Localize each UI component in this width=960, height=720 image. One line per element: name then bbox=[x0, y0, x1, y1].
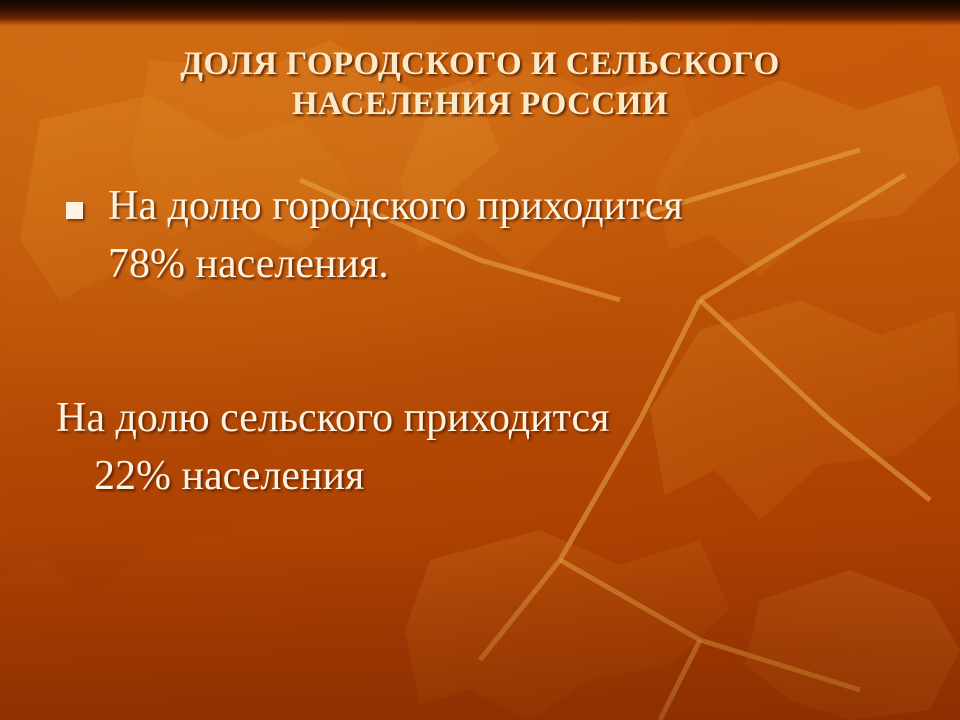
bullet-item-1: На долю городского приходится bbox=[52, 178, 932, 236]
slide-body: На долю городского приходится 78% населе… bbox=[52, 178, 932, 506]
slide-title: ДОЛЯ ГОРОДСКОГО И СЕЛЬСКОГО НАСЕЛЕНИЯ РО… bbox=[60, 44, 900, 125]
presentation-slide: ДОЛЯ ГОРОДСКОГО И СЕЛЬСКОГО НАСЕЛЕНИЯ РО… bbox=[0, 0, 960, 720]
bullet-item-2: На долю сельского приходится bbox=[52, 390, 932, 448]
bullet-1-line-2-row: 78% населения. bbox=[52, 236, 932, 294]
bullet-2-line-1: На долю сельского приходится bbox=[56, 395, 609, 441]
paragraph-spacer bbox=[52, 294, 932, 390]
bullet-2-line-2: 22% населения bbox=[94, 453, 364, 499]
bullet-1-line-1: На долю городского приходится bbox=[108, 183, 683, 229]
bullet-1-line-2: 78% населения. bbox=[108, 241, 389, 287]
square-bullet-icon bbox=[66, 202, 83, 219]
title-line-1: ДОЛЯ ГОРОДСКОГО И СЕЛЬСКОГО bbox=[60, 44, 900, 84]
title-line-2: НАСЕЛЕНИЯ РОССИИ bbox=[60, 84, 900, 124]
slide-content: ДОЛЯ ГОРОДСКОГО И СЕЛЬСКОГО НАСЕЛЕНИЯ РО… bbox=[0, 0, 960, 720]
bullet-2-line-2-row: 22% населения bbox=[52, 448, 932, 506]
